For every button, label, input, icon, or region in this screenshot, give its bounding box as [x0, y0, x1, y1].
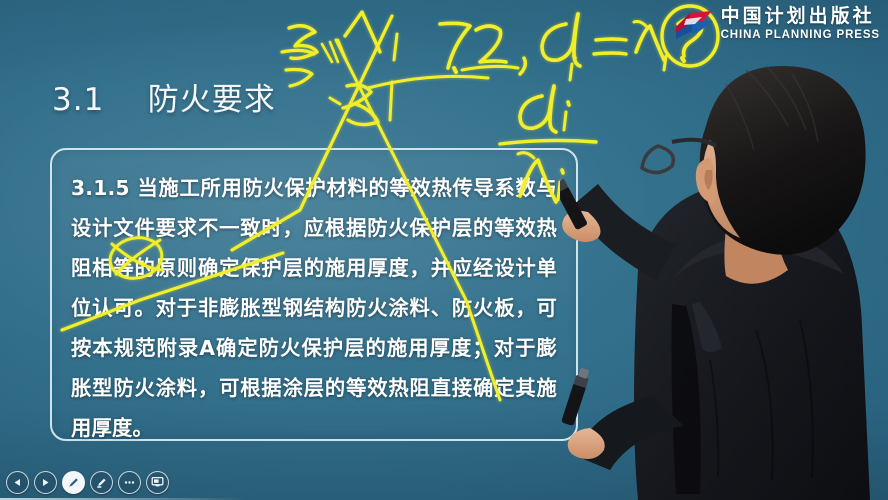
instructor-lower-sleeve — [576, 396, 684, 470]
triangle-right-icon — [41, 478, 50, 487]
clause-panel: 3.1.5 当施工所用防火保护材料的等效热传导系数与设计文件要求不一致时，应根据… — [50, 148, 578, 441]
clause-text: 3.1.5 当施工所用防火保护材料的等效热传导系数与设计文件要求不一致时，应根据… — [71, 168, 557, 448]
lecture-video-frame: 中国计划出版社 CHINA PLANNING PRESS 3.1 防火要求 3.… — [0, 0, 888, 500]
highlighter-icon — [95, 476, 108, 489]
publisher-name-cn: 中国计划出版社 — [721, 7, 875, 26]
presenter-view-button[interactable] — [146, 471, 169, 494]
triangle-left-icon — [13, 478, 22, 487]
publisher-logo: 中国计划出版社 CHINA PLANNING PRESS — [674, 6, 880, 42]
book-logo-icon — [674, 6, 714, 42]
player-toolbar[interactable] — [0, 464, 888, 500]
screen-icon — [151, 476, 164, 488]
previous-slide-button[interactable] — [6, 471, 29, 494]
instructor-figure — [560, 30, 888, 500]
publisher-name-block: 中国计划出版社 CHINA PLANNING PRESS — [721, 7, 880, 42]
ellipsis-icon — [123, 480, 136, 485]
next-slide-button[interactable] — [34, 471, 57, 494]
instructor-jacket — [634, 183, 870, 500]
pen-tool-button[interactable] — [62, 471, 85, 494]
highlighter-tool-button[interactable] — [90, 471, 113, 494]
pen-icon — [67, 476, 80, 489]
instructor-sleeve — [572, 184, 676, 280]
more-options-button[interactable] — [118, 471, 141, 494]
instructor-hair — [700, 66, 866, 255]
publisher-name-en: CHINA PLANNING PRESS — [721, 30, 880, 42]
section-title: 3.1 防火要求 — [52, 74, 276, 119]
